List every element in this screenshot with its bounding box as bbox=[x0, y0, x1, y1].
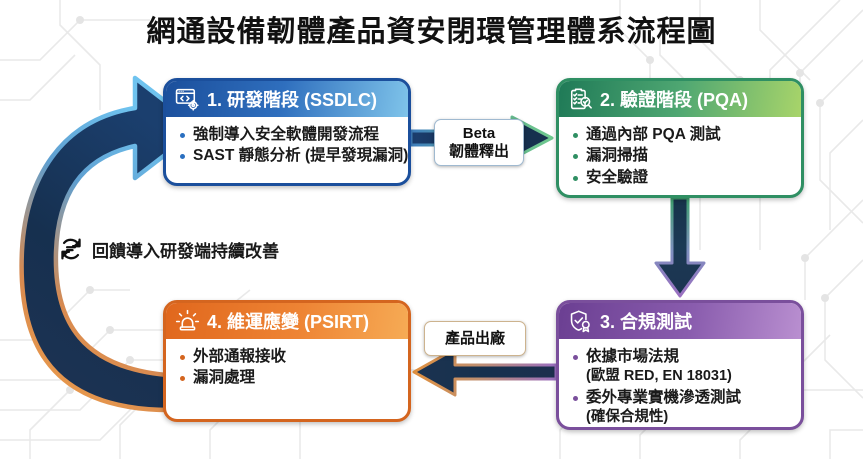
list-item: 委外專業實機滲透測試 (確保合規性) bbox=[573, 388, 791, 428]
stage-header-compliance: 3. 合規測試 bbox=[559, 303, 801, 339]
stage-box-ssdlc[interactable]: 1. 研發階段 (SSDLC) 強制導入安全軟體開發流程 SAST 靜態分析 (… bbox=[163, 78, 411, 186]
clipboard-check-magnifier-icon bbox=[568, 87, 593, 112]
item-subtext: (確保合規性) bbox=[586, 408, 791, 427]
item-text: 強制導入安全軟體開發流程 bbox=[193, 126, 379, 143]
item-text: 漏洞處理 bbox=[193, 369, 255, 386]
stage-title-compliance: 3. 合規測試 bbox=[600, 308, 692, 334]
down-arrow bbox=[656, 198, 704, 296]
connector-label-beta-line2: 韌體釋出 bbox=[449, 143, 509, 161]
connector-label-ship-line1: 產品出廠 bbox=[445, 330, 505, 348]
stage-body-pqa: 通過內部 PQA 測試 漏洞掃描 安全驗證 bbox=[559, 117, 801, 197]
siren-alarm-icon bbox=[175, 309, 200, 334]
stage-title-ssdlc: 1. 研發階段 (SSDLC) bbox=[207, 86, 377, 112]
list-item: 外部通報接收 bbox=[180, 347, 398, 367]
stage-body-ssdlc: 強制導入安全軟體開發流程 SAST 靜態分析 (提早發現漏洞) bbox=[166, 117, 408, 176]
connector-label-beta: Beta 韌體釋出 bbox=[434, 119, 524, 166]
code-window-gear-icon bbox=[175, 87, 200, 112]
stage-box-compliance[interactable]: 3. 合規測試 依據市場法規 (歐盟 RED, EN 18031) 委外專業實機… bbox=[556, 300, 804, 430]
stage-title-pqa: 2. 驗證階段 (PQA) bbox=[600, 86, 748, 112]
stage-box-pqa[interactable]: 2. 驗證階段 (PQA) 通過內部 PQA 測試 漏洞掃描 安全驗證 bbox=[556, 78, 804, 198]
feedback-note: 回饋導入研發端持續改善 bbox=[58, 236, 279, 262]
diagram-canvas: 網通設備韌體產品資安閉環管理體系流程圖 bbox=[0, 0, 863, 459]
item-text: 安全驗證 bbox=[586, 169, 648, 186]
list-item: 漏洞處理 bbox=[180, 368, 398, 388]
item-text: 委外專業實機滲透測試 bbox=[586, 389, 741, 406]
item-text: SAST 靜態分析 (提早發現漏洞) bbox=[193, 147, 408, 164]
refresh-loop-icon bbox=[58, 236, 84, 262]
stage-header-pqa: 2. 驗證階段 (PQA) bbox=[559, 81, 801, 117]
shield-check-badge-icon bbox=[568, 309, 593, 334]
list-item: 通過內部 PQA 測試 bbox=[573, 125, 791, 145]
item-text: 外部通報接收 bbox=[193, 348, 286, 365]
list-item: 漏洞掃描 bbox=[573, 146, 791, 166]
stage-header-psirt: 4. 維運應變 (PSIRT) bbox=[166, 303, 408, 339]
stage-box-psirt[interactable]: 4. 維運應變 (PSIRT) 外部通報接收 漏洞處理 bbox=[163, 300, 411, 422]
connector-label-ship: 產品出廠 bbox=[424, 321, 526, 356]
item-text: 漏洞掃描 bbox=[586, 147, 648, 164]
item-subtext: (歐盟 RED, EN 18031) bbox=[586, 367, 791, 386]
stage-title-psirt: 4. 維運應變 (PSIRT) bbox=[207, 308, 369, 334]
page-title: 網通設備韌體產品資安閉環管理體系流程圖 bbox=[0, 8, 863, 50]
list-item: SAST 靜態分析 (提早發現漏洞) bbox=[180, 146, 398, 166]
list-item: 強制導入安全軟體開發流程 bbox=[180, 125, 398, 145]
list-item: 依據市場法規 (歐盟 RED, EN 18031) bbox=[573, 347, 791, 387]
feedback-label: 回饋導入研發端持續改善 bbox=[92, 237, 279, 262]
item-text: 依據市場法規 bbox=[586, 348, 679, 365]
stage-body-psirt: 外部通報接收 漏洞處理 bbox=[166, 339, 408, 398]
list-item: 安全驗證 bbox=[573, 168, 791, 188]
item-text: 通過內部 PQA 測試 bbox=[586, 126, 721, 143]
stage-header-ssdlc: 1. 研發階段 (SSDLC) bbox=[166, 81, 408, 117]
connector-label-beta-line1: Beta bbox=[463, 125, 496, 143]
stage-body-compliance: 依據市場法規 (歐盟 RED, EN 18031) 委外專業實機滲透測試 (確保… bbox=[559, 339, 801, 430]
